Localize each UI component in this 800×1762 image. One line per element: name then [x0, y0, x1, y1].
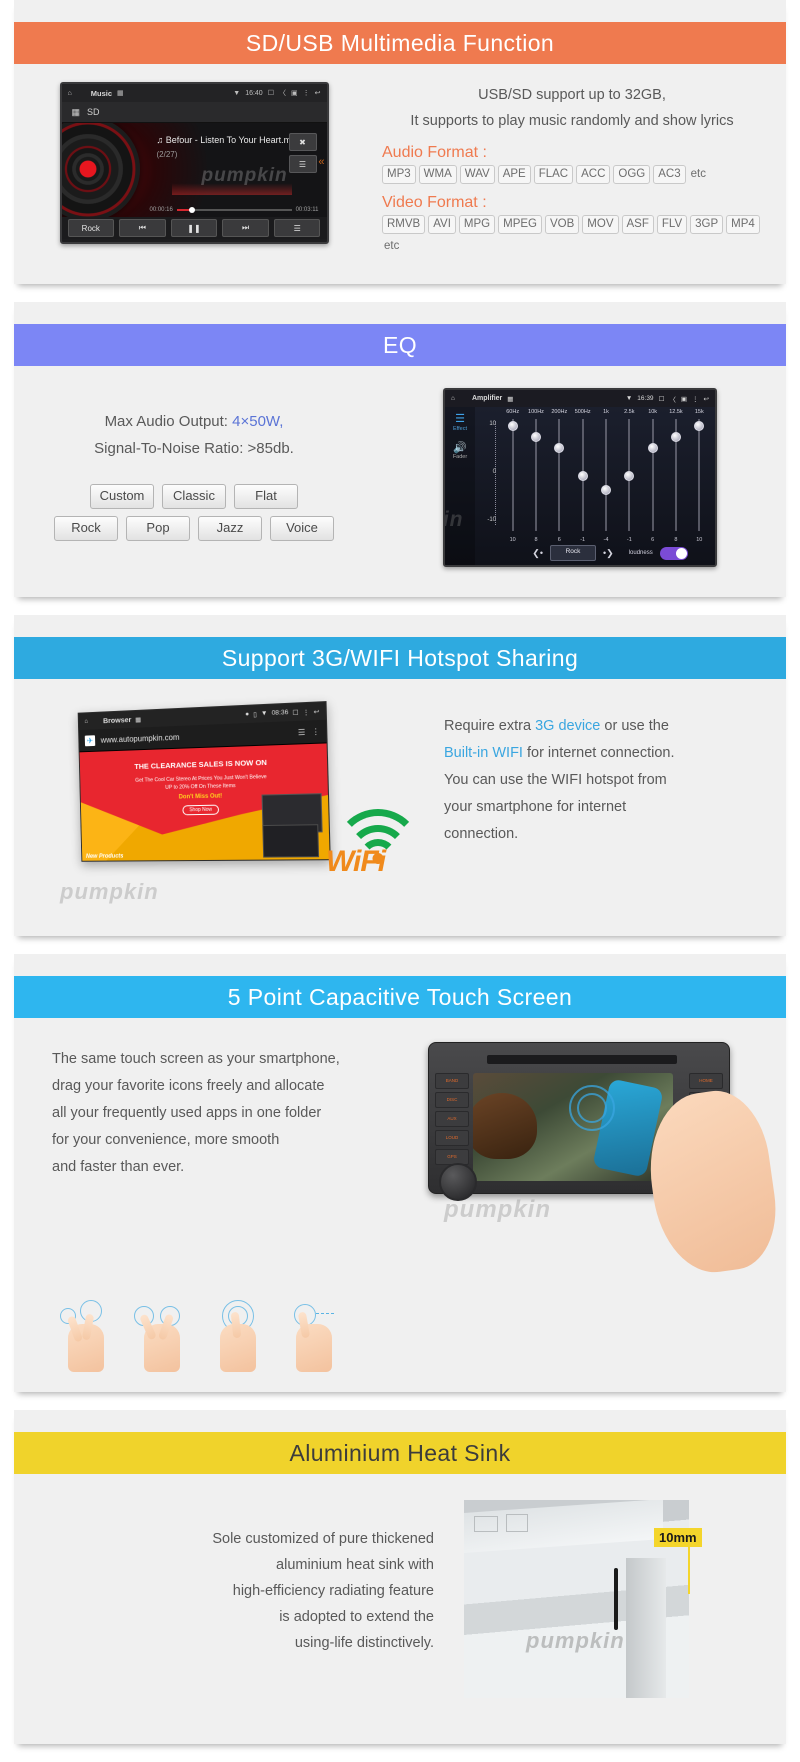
amplifier-app-title: Amplifier [472, 395, 502, 402]
browser-app-title: Browser [103, 715, 132, 725]
player-now-playing: ♫ Befour - Listen To Your Heart.m... (2/… [62, 123, 327, 217]
equalizer-panel: 10 0 -10 60Hz 10 [475, 407, 715, 565]
hotspot-line-4: your smartphone for internet [444, 794, 768, 821]
double-chevron-left-icon[interactable]: « [318, 156, 324, 168]
track-title-text: Befour - Listen To Your Heart.m... [166, 135, 299, 145]
eq-band-rail [652, 419, 653, 531]
eq-text-block: Max Audio Output: 4×50W, Signal-To-Noise… [14, 388, 374, 567]
hotspot-builtin-wifi: Built-in WIFI [444, 745, 523, 761]
picture-icon[interactable]: ▣ [291, 89, 298, 97]
gesture-swipe [286, 1300, 342, 1372]
section-top-spacer [14, 0, 786, 22]
heat-sink-text-block: Sole customized of pure thickened alumin… [14, 1500, 454, 1710]
overflow-menu-icon[interactable]: ⋮ [311, 727, 320, 737]
player-source-label: SD [87, 107, 100, 117]
section-top-spacer [14, 615, 786, 637]
touch-line-4: for your convenience, more smooth [52, 1127, 422, 1154]
touch-line-3: all your frequently used apps in one fol… [52, 1100, 422, 1127]
section-heat-sink: Aluminium Heat Sink Sole customized of p… [14, 1410, 786, 1744]
heat-sink-line-5: using-life distinctively. [14, 1630, 434, 1656]
browser-page-content: THE CLEARANCE SALES IS NOW ON Get The Co… [80, 743, 330, 861]
eq-band[interactable]: 100Hz 8 [524, 409, 547, 543]
touch-line-5: and faster than ever. [52, 1154, 422, 1181]
wifi-icon: ▼ [261, 710, 268, 717]
browser-figure: ⌂ Browser ▦ ● ▯ ▼ 08:36 ☐ ⋮ ↩ ✈ w [14, 697, 444, 912]
screen-icon: ☐ [268, 89, 274, 97]
eq-band[interactable]: 1k -4 [594, 409, 617, 543]
head-unit-left-keys: BAND DISC AUX LOUD GPS [435, 1073, 469, 1168]
speaker-icon[interactable]: 🔊 [445, 441, 475, 454]
eq-preset-buttons: Custom Classic Flat Rock Pop Jazz Voice [14, 484, 374, 541]
format-chip: MP4 [726, 215, 760, 234]
eq-band[interactable]: 60Hz 10 [501, 409, 524, 543]
volume-knob[interactable] [439, 1163, 477, 1201]
format-chip: FLAC [534, 165, 573, 184]
head-unit-display[interactable] [473, 1073, 673, 1181]
section-title-heat-sink: Aluminium Heat Sink [14, 1432, 786, 1474]
overflow-menu-icon[interactable]: ⋮ [303, 89, 310, 97]
sd-usb-text-block: USB/SD support up to 32GB, It supports t… [374, 82, 786, 256]
amplifier-main: ☰ Effect 🔊 Fader 10 0 -10 [445, 407, 715, 565]
amplifier-clock: 16:39 [637, 395, 653, 402]
hotspot-line-3: You can use the WIFI hotspot from [444, 767, 768, 794]
eq-preset-button[interactable]: Rock [68, 219, 115, 237]
ad-subtext-line2: UP to 20% Off On These Items [165, 783, 235, 791]
section-title-touch-screen: 5 Point Capacitive Touch Screen [14, 976, 786, 1018]
back-arrow-icon[interactable]: ↩ [314, 707, 320, 715]
max-audio-output-label: Max Audio Output: [105, 413, 233, 430]
eq-scale-ticks [495, 421, 496, 525]
head-unit-key[interactable]: BAND [435, 1073, 469, 1089]
back-arrow-icon[interactable]: ↩ [315, 89, 321, 97]
sliders-icon[interactable]: ☰ [445, 413, 475, 426]
screen-icon: ☐ [292, 708, 298, 716]
format-chip: MP3 [382, 165, 416, 184]
eq-band-freq: 2.5k [618, 409, 641, 415]
watermark-pumpkin: pumpkin [526, 1628, 625, 1654]
sd-card-icon: ▦ [507, 395, 513, 403]
sim-icon: ▯ [253, 710, 257, 718]
eq-band-knob[interactable] [578, 471, 588, 481]
audio-format-chip-list: MP3 WMA WAV APE FLAC ACC OGG AC3 etc [382, 165, 770, 184]
new-products-tag: New Products [86, 854, 124, 860]
eq-band-list: 60Hz 10 100Hz 8 [501, 409, 711, 543]
section-title-hotspot: Support 3G/WIFI Hotspot Sharing [14, 637, 786, 679]
sd-card-icon: ▦ [117, 89, 124, 97]
seek-bar-row[interactable]: 00:00:16 00:03:11 [150, 207, 319, 213]
eq-band-knob[interactable] [531, 432, 541, 442]
snr-line: Signal-To-Noise Ratio: >85db. [14, 435, 374, 462]
shop-now-button[interactable]: Shop Now [182, 805, 219, 816]
touch-text-block: The same touch screen as your smartphone… [14, 1032, 422, 1282]
eq-band-knob[interactable] [671, 432, 681, 442]
section-body-heat-sink: Sole customized of pure thickened alumin… [14, 1474, 786, 1740]
eq-preset-jazz[interactable]: Jazz [198, 516, 262, 541]
player-clock: 16:40 [245, 90, 263, 97]
head-unit-key[interactable]: LOUD [435, 1130, 469, 1146]
time-total: 00:03:11 [296, 207, 319, 213]
video-format-etc: etc [382, 237, 401, 256]
eq-preset-row-1: Custom Classic Flat [14, 484, 374, 509]
gesture-spread [134, 1300, 190, 1372]
product-feature-page: SD/USB Multimedia Function ⌂ Music ▦ ▼ 1… [0, 0, 800, 1744]
section-top-spacer [14, 1410, 786, 1432]
sd-card-icon: ▦ [135, 715, 141, 723]
format-chip: MOV [582, 215, 618, 234]
music-player-figure: ⌂ Music ▦ ▼ 16:40 ☐ 〈 ▣ ⋮ ↩ ▦ SD [14, 82, 374, 256]
overflow-menu-icon[interactable]: ⋮ [303, 708, 310, 717]
section-top-spacer [14, 302, 786, 324]
eq-band[interactable]: 200Hz 6 [548, 409, 571, 543]
format-chip: APE [498, 165, 531, 184]
format-chip: ASF [622, 215, 654, 234]
eq-preset-voice[interactable]: Voice [270, 516, 334, 541]
format-chip: MPEG [498, 215, 542, 234]
head-unit-figure: BAND DISC AUX LOUD GPS [422, 1032, 786, 1282]
horse-image [473, 1093, 537, 1159]
tabs-icon[interactable]: ☰ [298, 727, 306, 737]
heat-sink-line-4: is adopted to extend the [14, 1604, 434, 1630]
wifi-wordmark-text: WiFi [326, 845, 385, 878]
eq-band-knob[interactable] [624, 471, 634, 481]
eq-band-freq: 15k [688, 409, 711, 415]
max-audio-output-line: Max Audio Output: 4×50W, [14, 408, 374, 435]
sd-usb-intro-line1: USB/SD support up to 32GB, [374, 82, 770, 108]
section-eq: EQ Max Audio Output: 4×50W, Signal-To-No… [14, 302, 786, 597]
prev-preset-icon[interactable]: ❮• [532, 548, 543, 559]
section-body-eq: Max Audio Output: 4×50W, Signal-To-Noise… [14, 366, 786, 593]
sd-usb-intro-line2: It supports to play music randomly and s… [374, 108, 770, 134]
touch-line-1: The same touch screen as your smartphone… [52, 1046, 422, 1073]
picture-icon[interactable]: ▣ [681, 395, 687, 403]
amplifier-figure: ⌂ Amplifier ▦ ▼ 16:39 ☐ 〈 ▣ ⋮ ↩ [374, 388, 786, 567]
home-icon[interactable]: ⌂ [68, 90, 72, 97]
music-player-screenshot: ⌂ Music ▦ ▼ 16:40 ☐ 〈 ▣ ⋮ ↩ ▦ SD [60, 82, 329, 244]
hotspot-line-1: Require extra 3G device or use the [444, 713, 768, 740]
eq-band-knob[interactable] [694, 421, 704, 431]
eq-band[interactable]: 10k 6 [641, 409, 664, 543]
wifi-icon: ▼ [233, 90, 240, 97]
home-icon[interactable]: ⌂ [84, 718, 88, 725]
hotspot-line-2: Built-in WIFI for internet connection. [444, 740, 768, 767]
browser-clock: 08:36 [272, 709, 289, 717]
eq-band[interactable]: 12.5k 8 [664, 409, 687, 543]
eq-band-rail [559, 419, 560, 531]
disc-slot [487, 1055, 677, 1064]
audio-format-etc: etc [689, 165, 708, 184]
format-chip: VOB [545, 215, 579, 234]
ad-subtext-line1: Get The Cool Car Stereo At Prices You Ju… [135, 774, 267, 784]
section-title-sd-usb: SD/USB Multimedia Function [14, 22, 786, 64]
touch-line-2: drag your favorite icons freely and allo… [52, 1073, 422, 1100]
eq-preset-rock[interactable]: Rock [54, 516, 118, 541]
hotspot-line-2-b: for internet connection. [523, 745, 675, 761]
format-chip: AVI [428, 215, 456, 234]
amplifier-bottom-bar: ❮• Rock •❯ loudness [505, 543, 715, 563]
hotspot-text-block: Require extra 3G device or use the Built… [444, 697, 786, 912]
section-title-eq: EQ [14, 324, 786, 366]
player-status-bar: ⌂ Music ▦ ▼ 16:40 ☐ 〈 ▣ ⋮ ↩ [62, 84, 327, 102]
format-chip: OGG [613, 165, 650, 184]
loudness-toggle[interactable] [660, 547, 688, 560]
gesture-tap [210, 1300, 266, 1372]
format-chip: WMA [419, 165, 457, 184]
current-preset-button[interactable]: Rock [550, 545, 596, 561]
shuffle-icon[interactable]: ✖ [289, 133, 317, 151]
section-sd-usb: SD/USB Multimedia Function ⌂ Music ▦ ▼ 1… [14, 0, 786, 284]
pause-icon[interactable]: ❚❚ [171, 219, 218, 237]
chassis-label-2 [506, 1514, 528, 1532]
thickness-badge: 10mm [654, 1528, 702, 1547]
page-favicon: ✈ [85, 735, 96, 746]
eq-band-freq: 60Hz [501, 409, 524, 415]
eq-band-freq: 12.5k [664, 409, 687, 415]
section-touch-screen: 5 Point Capacitive Touch Screen The same… [14, 954, 786, 1392]
eq-preset-row-2: Rock Pop Jazz Voice [14, 516, 374, 541]
volume-icon[interactable]: 〈 [279, 88, 286, 98]
head-unit-key[interactable]: GPS [435, 1149, 469, 1165]
heat-sink-line-2: aluminium heat sink with [14, 1552, 434, 1578]
vinyl-disc-icon [62, 123, 140, 217]
gesture-illustrations [14, 1294, 786, 1388]
format-chip: 3GP [690, 215, 723, 234]
touch-ripple-icon [569, 1085, 615, 1131]
seek-bar[interactable] [177, 209, 292, 211]
head-unit-key[interactable]: DISC [435, 1092, 469, 1108]
eq-band-freq: 100Hz [524, 409, 547, 415]
previous-track-icon[interactable]: ⏮ [119, 219, 166, 237]
eq-band-freq: 10k [641, 409, 664, 415]
hotspot-line-1-c: or use the [600, 718, 669, 734]
eq-band-rail [605, 419, 606, 531]
player-transport-controls: Rock ⏮ ❚❚ ⏭ ☰ [62, 217, 327, 239]
amplifier-screenshot: ⌂ Amplifier ▦ ▼ 16:39 ☐ 〈 ▣ ⋮ ↩ [443, 388, 717, 567]
eq-preset-pop[interactable]: Pop [126, 516, 190, 541]
amplifier-side-nav: ☰ Effect 🔊 Fader [445, 407, 475, 565]
product-image-2 [262, 824, 319, 857]
aluminium-fin [626, 1558, 666, 1698]
max-audio-output-value: 4×50W, [232, 413, 283, 430]
eq-band-knob[interactable] [508, 421, 518, 431]
music-note-icon: ♫ [157, 135, 164, 145]
side-fader-label: Fader [445, 454, 475, 460]
heat-sink-gap [614, 1568, 618, 1630]
volume-icon[interactable]: 〈 [669, 394, 676, 404]
heat-sink-line-1: Sole customized of pure thickened [14, 1526, 434, 1552]
section-body-sd-usb: ⌂ Music ▦ ▼ 16:40 ☐ 〈 ▣ ⋮ ↩ ▦ SD [14, 64, 786, 280]
eq-preset-classic[interactable]: Classic [162, 484, 226, 509]
sd-source-icon: ▦ [72, 107, 81, 118]
location-icon: ● [245, 711, 249, 718]
browser-url-text[interactable]: www.autopumpkin.com [101, 728, 292, 744]
eq-band-freq: 200Hz [548, 409, 571, 415]
format-chip: MPG [459, 215, 495, 234]
browser-screenshot: ⌂ Browser ▦ ● ▯ ▼ 08:36 ☐ ⋮ ↩ ✈ w [78, 701, 331, 862]
eq-band[interactable]: 500Hz -1 [571, 409, 594, 543]
video-format-chip-list: RMVB AVI MPG MPEG VOB MOV ASF FLV 3GP MP… [382, 215, 770, 256]
amplifier-status-bar: ⌂ Amplifier ▦ ▼ 16:39 ☐ 〈 ▣ ⋮ ↩ [445, 390, 715, 407]
next-track-icon[interactable]: ⏭ [222, 219, 269, 237]
back-arrow-icon[interactable]: ↩ [704, 395, 709, 403]
eq-preset-flat[interactable]: Flat [234, 484, 298, 509]
eq-preset-custom[interactable]: Custom [90, 484, 154, 509]
overflow-menu-icon[interactable]: ⋮ [692, 395, 699, 403]
heat-sink-figure: pumpkin 10mm [454, 1500, 786, 1710]
eq-band-rail [699, 419, 700, 531]
chassis-label-1 [474, 1516, 498, 1532]
side-effect-label: Effect [445, 426, 475, 432]
video-format-label: Video Format : [382, 194, 770, 212]
format-chip: FLV [657, 215, 687, 234]
head-unit-key[interactable]: AUX [435, 1111, 469, 1127]
audio-format-label: Audio Format : [382, 144, 770, 162]
waveform-visualizer [172, 169, 292, 195]
eq-band-freq: 500Hz [571, 409, 594, 415]
eq-band-knob[interactable] [648, 443, 658, 453]
section-hotspot: Support 3G/WIFI Hotspot Sharing ⌂ Browse… [14, 615, 786, 936]
player-source-row: ▦ SD [62, 102, 327, 123]
format-chip: ACC [576, 165, 610, 184]
gesture-pinch [58, 1300, 114, 1372]
time-elapsed: 00:00:16 [150, 207, 173, 213]
hotspot-3g-device: 3G device [535, 718, 600, 734]
eq-band[interactable]: 2.5k -1 [618, 409, 641, 543]
home-icon[interactable]: ⌂ [451, 395, 455, 402]
format-chip: WAV [460, 165, 495, 184]
next-preset-icon[interactable]: •❯ [603, 548, 614, 559]
format-chip: RMVB [382, 215, 425, 234]
hotspot-line-5: connection. [444, 821, 768, 848]
playlist-icon[interactable]: ☰ [274, 219, 321, 237]
wifi-icon: ▼ [626, 395, 632, 402]
player-app-title: Music [91, 89, 112, 98]
head-unit-key[interactable]: HOME [689, 1073, 723, 1089]
watermark-pumpkin: pumpkin [60, 879, 159, 905]
section-body-touch-screen: The same touch screen as your smartphone… [14, 1018, 786, 1388]
eq-band-knob[interactable] [554, 443, 564, 453]
eq-band-knob[interactable] [601, 485, 611, 495]
section-body-hotspot: ⌂ Browser ▦ ● ▯ ▼ 08:36 ☐ ⋮ ↩ ✈ w [14, 679, 786, 932]
heat-sink-line-3: high-efficiency radiating feature [14, 1578, 434, 1604]
loudness-label: loudness [629, 550, 653, 556]
equalizer-icon[interactable]: ☰ [289, 155, 317, 173]
screen-icon: ☐ [659, 395, 665, 403]
format-chip: AC3 [653, 165, 685, 184]
eq-band-rail [512, 419, 513, 531]
hotspot-line-1-a: Require extra [444, 718, 535, 734]
eq-band-freq: 1k [594, 409, 617, 415]
eq-scale: 10 0 -10 [479, 421, 499, 525]
wifi-wordmark: WiFi [326, 845, 385, 879]
eq-band[interactable]: 15k 10 [688, 409, 711, 543]
section-top-spacer [14, 954, 786, 976]
